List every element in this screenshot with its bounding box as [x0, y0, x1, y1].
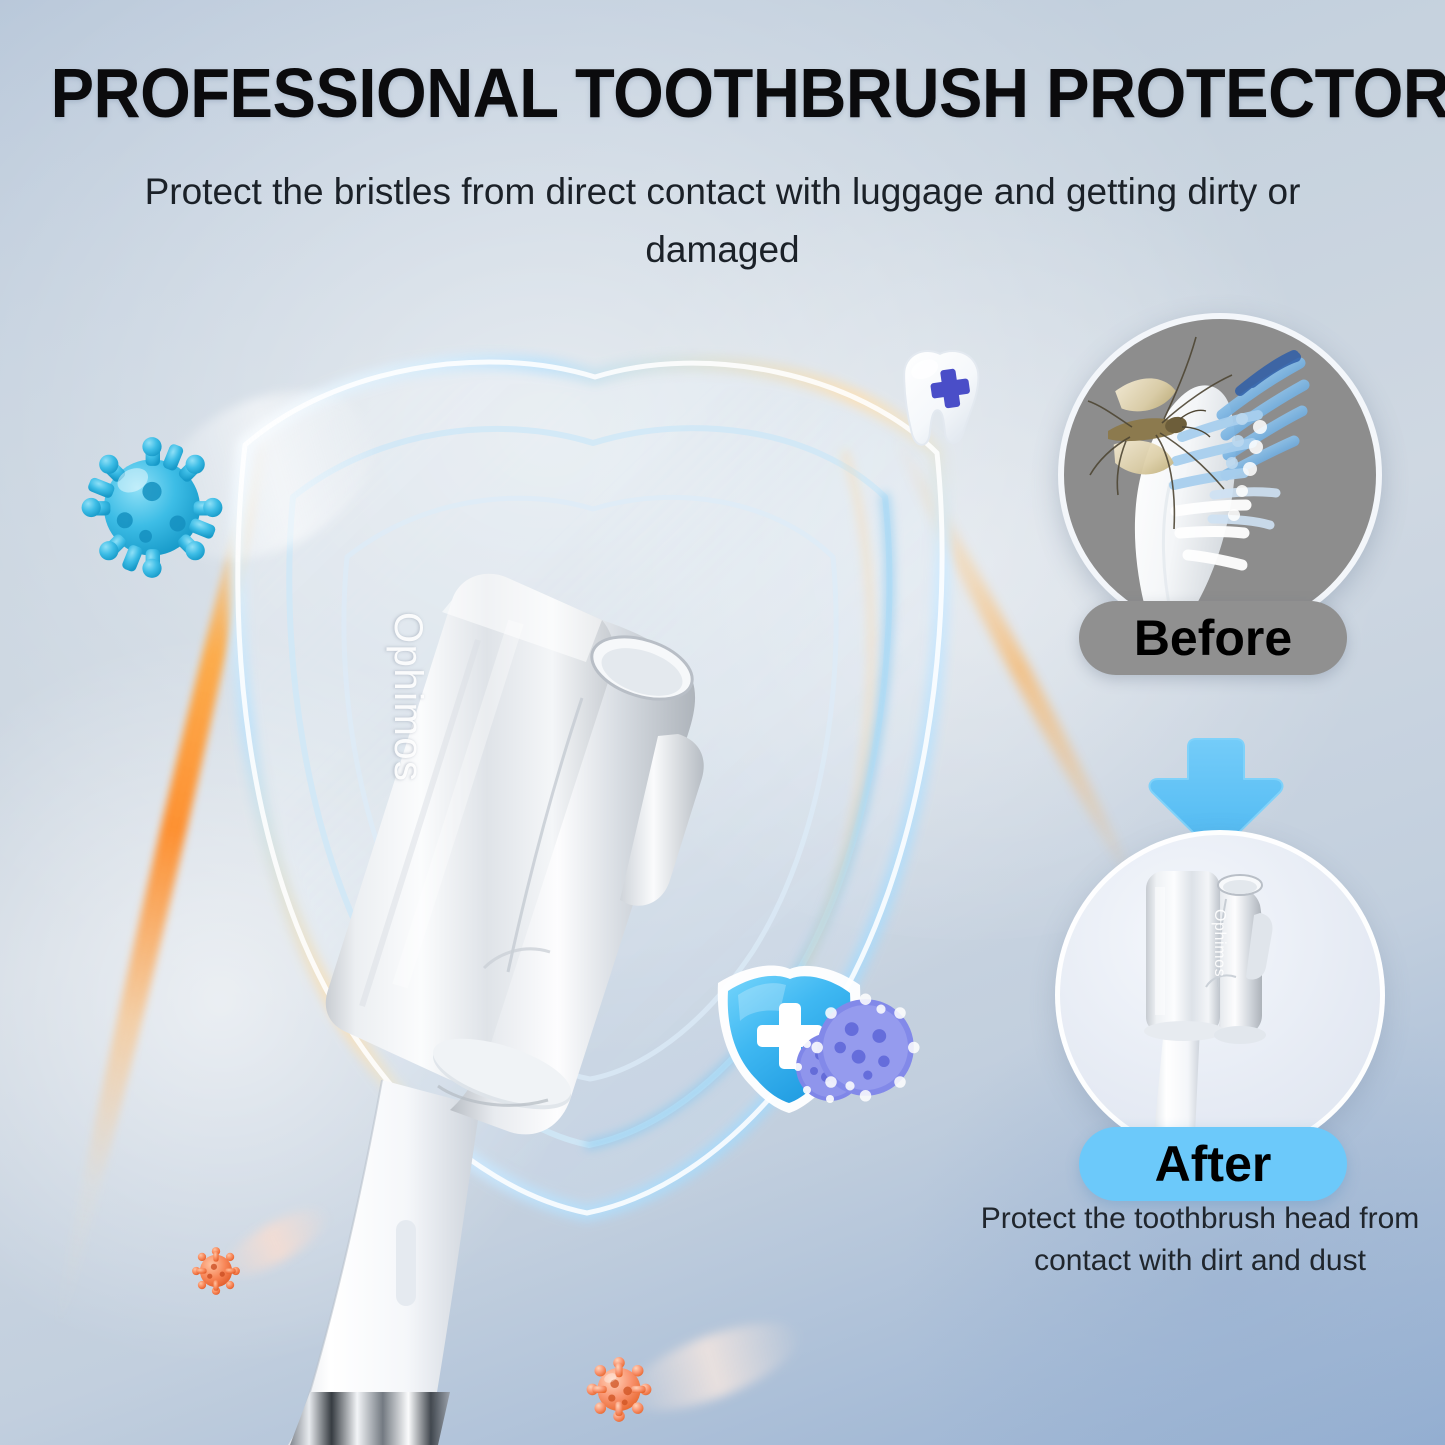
before-badge: Before — [1079, 601, 1347, 675]
shield-with-cross-icon — [700, 955, 880, 1120]
page-subtitle: Protect the bristles from direct contact… — [123, 163, 1323, 280]
background-glow-left — [0, 620, 600, 1380]
before-image-circle — [1058, 313, 1382, 637]
tooth-with-cross-icon — [876, 335, 1004, 465]
virus-particle-orange-small-icon — [190, 1245, 242, 1297]
motion-trail-small — [214, 1197, 337, 1290]
brand-logo-after: Ophimos — [1210, 909, 1228, 977]
motion-trail — [129, 357, 401, 593]
page-title: PROFESSIONAL TOOTHBRUSH PROTECTOR — [51, 58, 1395, 128]
after-badge: After — [1079, 1127, 1347, 1201]
motion-trail-large — [615, 1305, 810, 1429]
light-streak-icon — [45, 414, 282, 1336]
virus-particle-purple-icon — [808, 990, 923, 1105]
after-image-circle: Ophimos — [1055, 830, 1385, 1160]
brand-logo-main: Ophimos — [385, 612, 430, 783]
after-caption: Protect the toothbrush head from contact… — [955, 1198, 1445, 1282]
virus-particle-blue-icon — [72, 425, 232, 590]
main-product-image — [150, 520, 950, 1445]
virus-particle-orange-large-icon — [583, 1352, 655, 1424]
product-marketing-poster: PROFESSIONAL TOOTHBRUSH PROTECTOR Protec… — [0, 0, 1445, 1445]
glass-shield-graphic — [185, 325, 995, 1225]
